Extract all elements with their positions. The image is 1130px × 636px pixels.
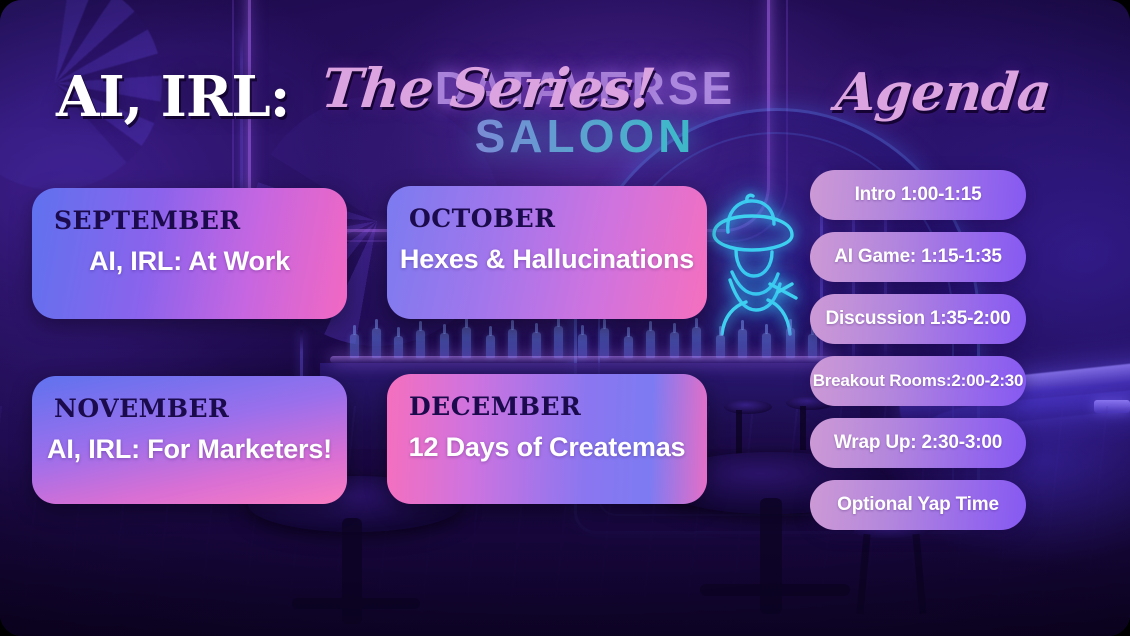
agenda-item-label: Discussion 1:35-2:00 [825, 308, 1010, 330]
agenda-item-ai-game[interactable]: AI Game: 1:15-1:35 [810, 232, 1026, 282]
agenda-item-intro[interactable]: Intro 1:00-1:15 [810, 170, 1026, 220]
agenda-item-wrap-up[interactable]: Wrap Up: 2:30-3:00 [810, 418, 1026, 468]
page-title: AI, IRL: [56, 64, 289, 130]
month-card-label: NOVEMBER [54, 394, 229, 423]
month-card-title: AI, IRL: At Work [32, 246, 347, 277]
month-card-title: AI, IRL: For Marketers! [32, 434, 347, 465]
agenda-item-breakout-rooms[interactable]: Breakout Rooms:2:00-2:30 [810, 356, 1026, 406]
agenda-heading: Agenda [833, 62, 1039, 123]
agenda-item-optional-yap-time[interactable]: Optional Yap Time [810, 480, 1026, 530]
month-card-september[interactable]: SEPTEMBER AI, IRL: At Work [32, 188, 347, 319]
month-card-label: OCTOBER [409, 204, 556, 233]
agenda-item-label: Breakout Rooms:2:00-2:30 [813, 371, 1024, 391]
agenda-item-label: Optional Yap Time [837, 494, 999, 516]
month-card-title: 12 Days of Createmas [387, 432, 707, 463]
month-card-november[interactable]: NOVEMBER AI, IRL: For Marketers! [32, 376, 347, 504]
month-card-title: Hexes & Hallucinations [387, 244, 707, 275]
month-card-label: SEPTEMBER [54, 206, 241, 235]
agenda-item-label: Wrap Up: 2:30-3:00 [834, 432, 1002, 454]
month-card-label: DECEMBER [409, 392, 581, 421]
month-card-october[interactable]: OCTOBER Hexes & Hallucinations [387, 186, 707, 319]
page-title-script: The Series! [319, 56, 658, 120]
month-card-december[interactable]: DECEMBER 12 Days of Createmas [387, 374, 707, 504]
agenda-item-discussion[interactable]: Discussion 1:35-2:00 [810, 294, 1026, 344]
agenda-item-label: Intro 1:00-1:15 [855, 184, 982, 206]
slide-canvas: DATAVERSE SALOON [0, 0, 1130, 636]
slide-content: AI, IRL: The Series! Agenda SEPTEMBER AI… [0, 0, 1130, 636]
agenda-item-label: AI Game: 1:15-1:35 [834, 246, 1001, 268]
